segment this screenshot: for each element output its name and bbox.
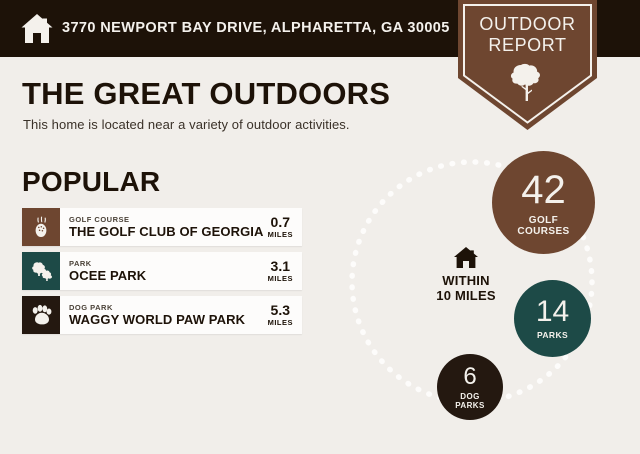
poi-name: THE GOLF CLUB OF GEORGIA (69, 224, 264, 239)
stat-label: GOLF COURSES (517, 215, 569, 238)
poi-name: OCEE PARK (69, 268, 264, 283)
poi-text-block: GOLF COURSE THE GOLF CLUB OF GEORGIA (60, 208, 264, 246)
poi-text-block: PARK OCEE PARK (60, 252, 264, 290)
radius-hub: WITHIN 10 MILES (414, 246, 518, 303)
poi-category: GOLF COURSE (69, 215, 264, 224)
list-item[interactable]: DOG PARK WAGGY WORLD PAW PARK 5.3 MILES (22, 296, 302, 334)
stat-label-line2: PARKS (455, 401, 484, 410)
stat-label: PARKS (537, 331, 568, 341)
golf-icon (29, 215, 53, 239)
home-icon (453, 246, 479, 269)
outdoor-report-infographic: 3770 NEWPORT BAY DRIVE, ALPHARETTA, GA 3… (0, 0, 640, 454)
stat-label: DOG PARKS (455, 392, 484, 410)
home-icon (20, 13, 54, 44)
stat-parks: 14 PARKS (514, 280, 591, 357)
poi-distance: 0.7 MILES (264, 208, 302, 246)
paw-icon (29, 303, 54, 327)
stat-dog-parks: 6 DOG PARKS (437, 354, 503, 420)
poi-distance-unit: MILES (268, 274, 293, 283)
popular-poi-list: GOLF COURSE THE GOLF CLUB OF GEORGIA 0.7… (22, 208, 302, 340)
stat-label-line1: PARKS (537, 331, 568, 341)
badge-title-line1: OUTDOOR (458, 14, 597, 35)
poi-category: DOG PARK (69, 303, 264, 312)
poi-distance: 3.1 MILES (264, 252, 302, 290)
radius-label-line2: 10 MILES (414, 288, 518, 303)
poi-distance-unit: MILES (268, 318, 293, 327)
page-title: THE GREAT OUTDOORS (22, 76, 390, 112)
property-address: 3770 NEWPORT BAY DRIVE, ALPHARETTA, GA 3… (62, 20, 450, 36)
poi-category: PARK (69, 259, 264, 268)
stat-value: 14 (536, 297, 569, 327)
stat-label-line2: COURSES (517, 226, 569, 238)
outdoor-report-badge: OUTDOOR REPORT (458, 0, 597, 130)
tree-icon (510, 62, 544, 102)
badge-title: OUTDOOR REPORT (458, 14, 597, 56)
stat-label-line1: DOG (455, 392, 484, 401)
poi-icon-tile (22, 252, 60, 290)
stat-label-line1: GOLF (517, 215, 569, 227)
trees-icon (29, 259, 54, 283)
list-item[interactable]: PARK OCEE PARK 3.1 MILES (22, 252, 302, 290)
radius-label-line1: WITHIN (414, 273, 518, 288)
poi-distance: 5.3 MILES (264, 296, 302, 334)
stat-value: 6 (463, 365, 476, 389)
poi-distance-value: 5.3 (271, 303, 290, 318)
poi-distance-unit: MILES (268, 230, 293, 239)
popular-section-title: POPULAR (22, 166, 160, 198)
poi-icon-tile (22, 296, 60, 334)
poi-distance-value: 3.1 (271, 259, 290, 274)
page-subtitle: This home is located near a variety of o… (23, 117, 350, 132)
list-item[interactable]: GOLF COURSE THE GOLF CLUB OF GEORGIA 0.7… (22, 208, 302, 246)
stat-golf-courses: 42 GOLF COURSES (492, 151, 595, 254)
poi-name: WAGGY WORLD PAW PARK (69, 312, 264, 327)
poi-icon-tile (22, 208, 60, 246)
poi-text-block: DOG PARK WAGGY WORLD PAW PARK (60, 296, 264, 334)
stat-value: 42 (521, 170, 566, 210)
poi-distance-value: 0.7 (271, 215, 290, 230)
badge-title-line2: REPORT (458, 35, 597, 56)
